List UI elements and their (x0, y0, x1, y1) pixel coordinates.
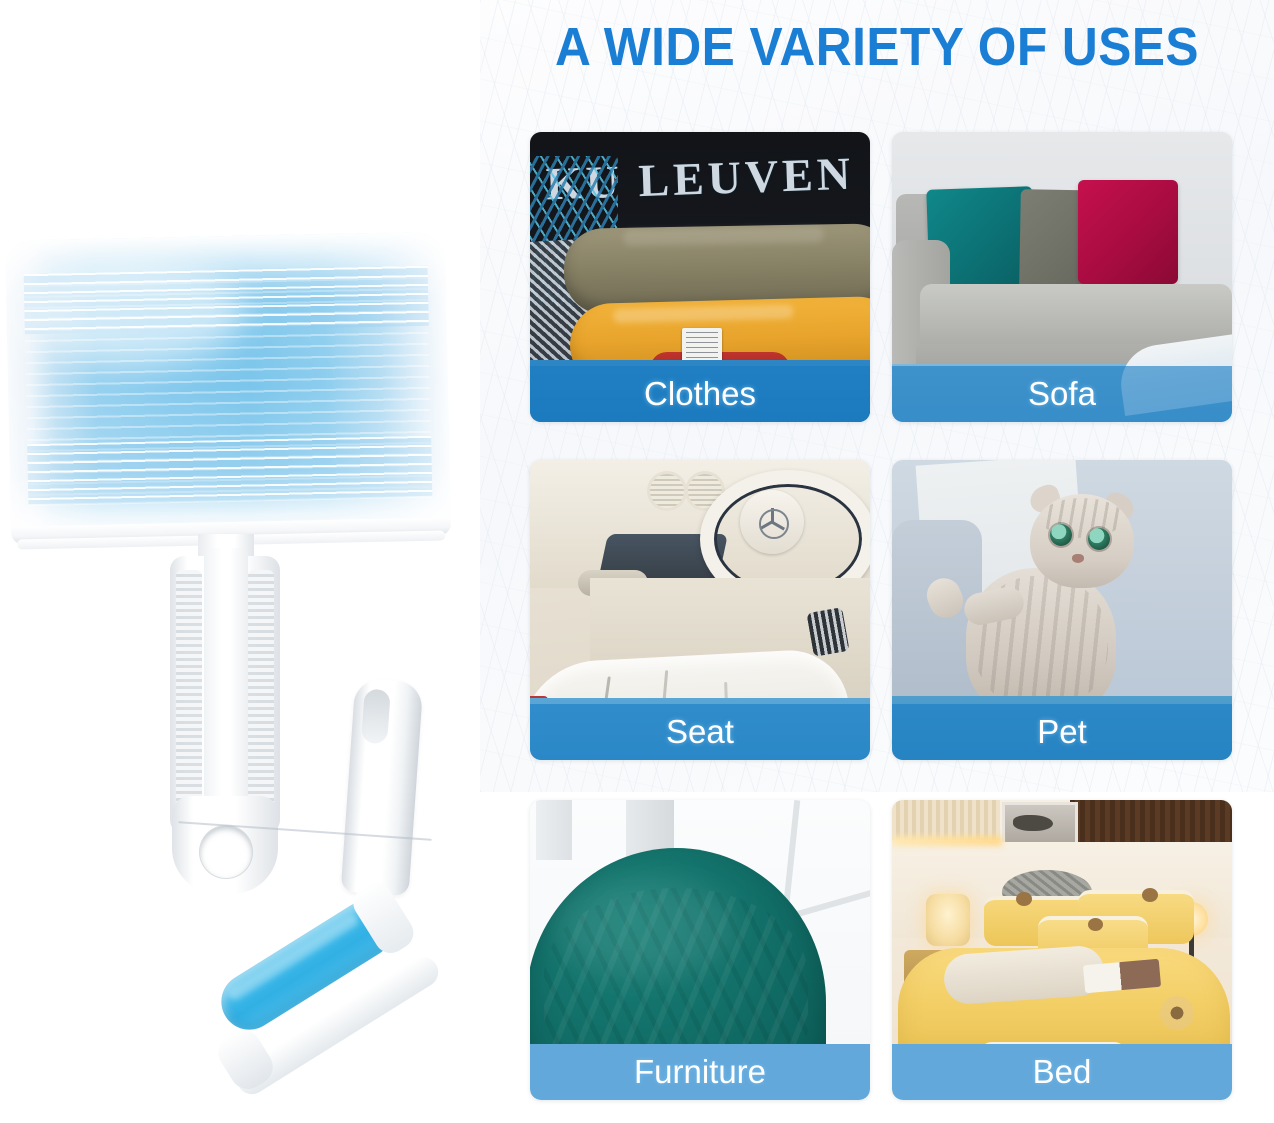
kitten-nose (1072, 554, 1084, 563)
air-vent-left-icon (650, 474, 684, 508)
kitten-head (1030, 494, 1134, 588)
cove-light-glow (892, 836, 1002, 846)
accelerator-pedal (806, 607, 849, 657)
bedside-lamp-left (926, 894, 970, 946)
tile-caption-bed: Bed (892, 1044, 1232, 1100)
mini-roller-handle (341, 678, 424, 896)
duvet-embroidery-medallion (1160, 996, 1194, 1030)
tile-caption-pet: Pet (892, 704, 1232, 760)
tile-caption-furniture: Furniture (530, 1044, 870, 1100)
magenta-cushion (1078, 180, 1178, 284)
page-title: A WIDE VARIETY OF USES (525, 18, 1230, 76)
white-post-left (536, 800, 572, 860)
pillow-embroidery-left (1016, 892, 1032, 906)
uses-panel: A WIDE VARIETY OF USES KU LEUVEN Clothes (480, 0, 1274, 1123)
velvet-nap-texture (544, 888, 808, 1063)
use-tile-sofa[interactable]: Sofa (892, 132, 1232, 422)
product-photo-panel (0, 0, 480, 1123)
wood-wall-panel (1070, 800, 1232, 846)
mini-lint-roller (170, 680, 440, 1050)
pleated-headboard-panel (892, 800, 1000, 840)
kitten-eye-left (1050, 524, 1072, 546)
tile-caption-sofa: Sofa (892, 366, 1232, 422)
tile-caption-clothes: Clothes (530, 366, 870, 422)
use-tile-clothes[interactable]: KU LEUVEN Clothes (530, 132, 870, 422)
large-lint-roller (5, 231, 451, 540)
infographic-canvas: A WIDE VARIETY OF USES KU LEUVEN Clothes (0, 0, 1274, 1123)
pillow-embroidery-center (1088, 918, 1103, 931)
use-tile-seat[interactable]: Seat (530, 460, 870, 760)
care-label-tag (682, 328, 722, 362)
mercedes-star-icon (758, 508, 786, 536)
use-tile-bed[interactable]: Bed (892, 800, 1232, 1100)
roller-dust-cover (5, 231, 451, 540)
use-tile-furniture[interactable]: Furniture (530, 800, 870, 1100)
use-tile-pet[interactable]: Pet (892, 460, 1232, 760)
tile-caption-seat: Seat (530, 704, 870, 760)
cover-ribs-bottom (27, 436, 432, 504)
kitten-eye-right (1088, 528, 1110, 550)
pillow-embroidery-right (1142, 888, 1158, 902)
mini-roller-fork (183, 875, 443, 1100)
